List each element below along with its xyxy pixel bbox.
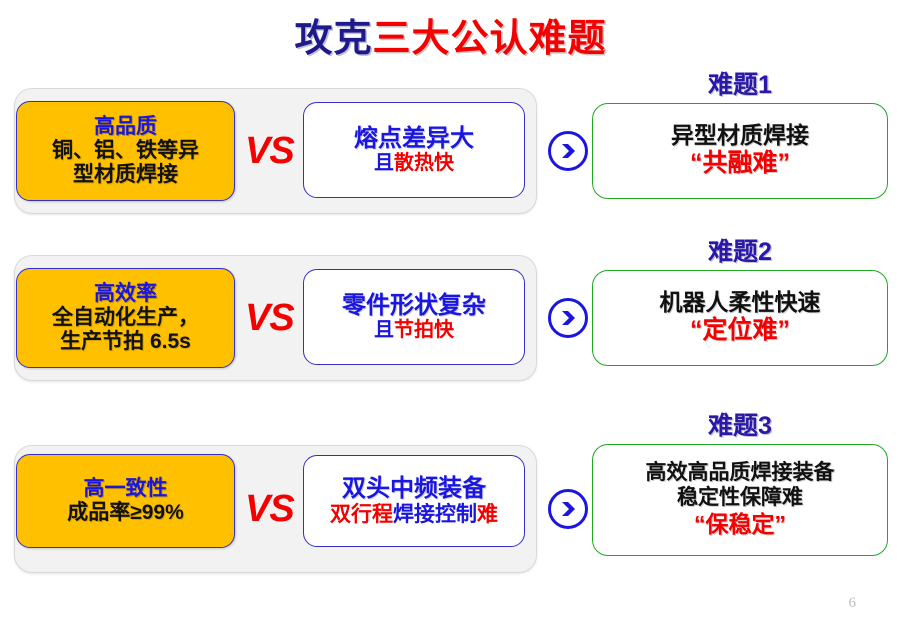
flow-arrow: [548, 255, 588, 381]
challenge-row-2: 高效率 全自动化生产， 生产节拍 6.5s VS 零件形状复杂 且节拍快 难题2…: [0, 255, 901, 387]
problem-line-2: 双行程焊接控制难: [330, 503, 498, 527]
answer-column: 难题1 异型材质焊接 “共融难”: [592, 72, 888, 199]
challenge-label: 难题2: [592, 239, 888, 267]
answer-box[interactable]: 异型材质焊接 “共融难”: [592, 103, 888, 199]
problem-line-2: 且节拍快: [374, 319, 454, 342]
answer-red-line: “共融难”: [690, 149, 790, 179]
problem-line-1: 零件形状复杂: [342, 292, 486, 320]
problem-segment: 双行程: [330, 503, 393, 526]
problem-segment: 焊接控制: [393, 503, 477, 526]
answer-black-line: 稳定性保障难: [677, 486, 803, 511]
answer-black-line: 高效高品质焊接装备: [646, 461, 835, 486]
problem-segment: 且: [374, 152, 394, 174]
answer-box[interactable]: 机器人柔性快速 “定位难”: [592, 270, 888, 366]
problem-line-1: 熔点差异大: [354, 125, 474, 153]
problem-box[interactable]: 双头中频装备 双行程焊接控制难: [303, 455, 525, 547]
vs-label: VS: [245, 255, 294, 381]
challenge-row-1: 高品质 铜、铝、铁等异 型材质焊接 VS 熔点差异大 且散热快 难题1 异型材质…: [0, 88, 901, 220]
flow-arrow: [548, 88, 588, 214]
challenge-label: 难题3: [592, 413, 888, 441]
problem-line-2: 且散热快: [374, 152, 454, 175]
chevron-right-circle-icon: [548, 489, 588, 529]
goal-box[interactable]: 高品质 铜、铝、铁等异 型材质焊接: [16, 101, 235, 201]
answer-red-line: “保稳定”: [694, 511, 786, 538]
answer-red-line: “定位难”: [690, 316, 790, 346]
page-number: 6: [849, 595, 857, 612]
goal-box[interactable]: 高效率 全自动化生产， 生产节拍 6.5s: [16, 268, 235, 368]
vs-label: VS: [245, 445, 294, 573]
goal-heading: 高一致性: [84, 477, 168, 501]
chevron-right-circle-icon: [548, 298, 588, 338]
problem-box[interactable]: 零件形状复杂 且节拍快: [303, 269, 525, 365]
problem-segment: 散热快: [394, 152, 454, 174]
goal-body-line: 成品率≥99%: [67, 501, 184, 525]
problem-line-1: 双头中频装备: [342, 475, 486, 503]
answer-column: 难题2 机器人柔性快速 “定位难”: [592, 239, 888, 366]
problem-box[interactable]: 熔点差异大 且散热快: [303, 102, 525, 198]
answer-box[interactable]: 高效高品质焊接装备 稳定性保障难 “保稳定”: [592, 444, 888, 556]
problem-segment: 难: [477, 503, 498, 526]
page-title: 攻克三大公认难题: [0, 18, 901, 62]
page-title-dark-part: 攻克: [294, 18, 372, 60]
answer-black-line: 异型材质焊接: [671, 122, 809, 149]
goal-heading: 高品质: [94, 115, 157, 139]
chevron-right-circle-icon: [548, 131, 588, 171]
goal-body-line: 型材质焊接: [73, 163, 178, 187]
goal-body-line: 全自动化生产，: [52, 306, 199, 330]
goal-heading: 高效率: [94, 282, 157, 306]
goal-body-line: 铜、铝、铁等异: [52, 139, 199, 163]
problem-segment: 节拍快: [394, 319, 454, 341]
flow-arrow: [548, 445, 588, 573]
page-title-red-part: 三大公认难题: [373, 18, 607, 60]
vs-label: VS: [245, 88, 294, 214]
goal-box[interactable]: 高一致性 成品率≥99%: [16, 454, 235, 548]
answer-column: 难题3 高效高品质焊接装备 稳定性保障难 “保稳定”: [592, 413, 888, 556]
answer-black-line: 机器人柔性快速: [660, 289, 821, 316]
goal-body-line: 生产节拍 6.5s: [60, 330, 191, 354]
challenge-row-3: 高一致性 成品率≥99% VS 双头中频装备 双行程焊接控制难 难题3 高效高品…: [0, 437, 901, 587]
challenge-label: 难题1: [592, 72, 888, 100]
problem-segment: 且: [374, 319, 394, 341]
